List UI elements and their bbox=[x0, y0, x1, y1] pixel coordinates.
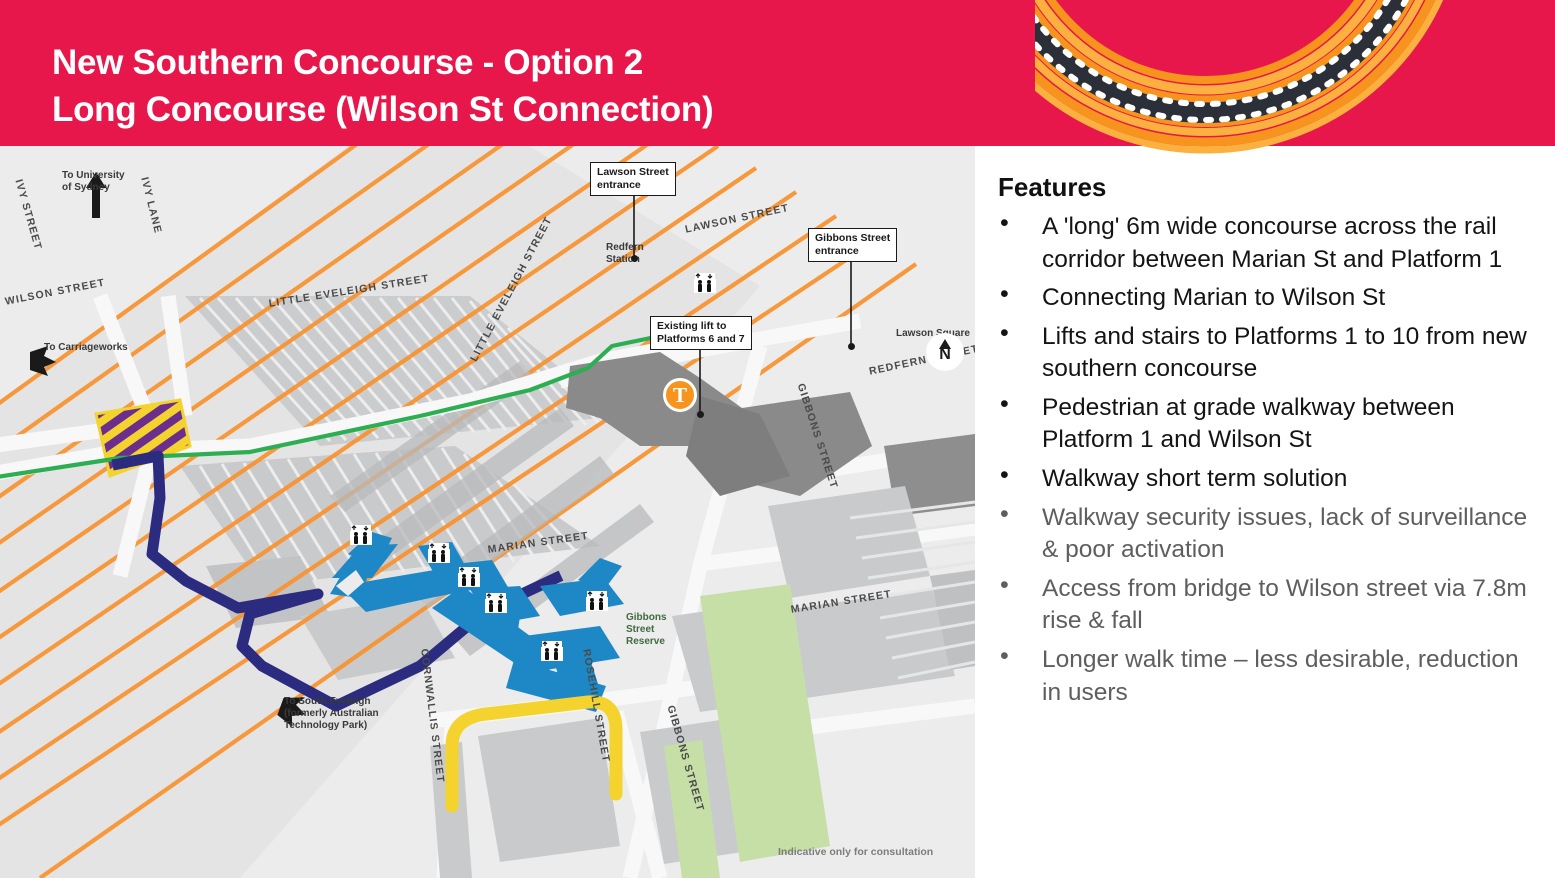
callout-gibbons-street-entrance[interactable]: Gibbons Street entrance bbox=[808, 228, 897, 262]
page-title: New Southern Concourse - Option 2 Long C… bbox=[52, 40, 1052, 133]
features-bullet-list: •A 'long' 6m wide concourse across the r… bbox=[990, 211, 1550, 709]
feature-bullet-text: A 'long' 6m wide concourse across the ra… bbox=[1042, 211, 1550, 276]
bullet-dot-icon: • bbox=[990, 644, 1042, 709]
lift-stairs-marker-icon bbox=[692, 272, 718, 294]
feature-bullet-text: Walkway security issues, lack of surveil… bbox=[1042, 502, 1550, 567]
feature-bullet: •Walkway security issues, lack of survei… bbox=[990, 502, 1550, 567]
lift-stairs-marker-icon bbox=[426, 542, 452, 564]
lift-stairs-marker-icon bbox=[483, 592, 509, 614]
feature-bullet-text: Lifts and stairs to Platforms 1 to 10 fr… bbox=[1042, 321, 1550, 386]
title-banner: New Southern Concourse - Option 2 Long C… bbox=[0, 0, 1555, 146]
map-disclaimer: Indicative only for consultation bbox=[778, 846, 933, 859]
callout-anchor-dot bbox=[631, 255, 638, 262]
slide: New Southern Concourse - Option 2 Long C… bbox=[0, 0, 1555, 878]
features-panel: Features •A 'long' 6m wide concourse acr… bbox=[990, 160, 1550, 878]
bullet-dot-icon: • bbox=[990, 463, 1042, 496]
callout-anchor-dot bbox=[697, 411, 704, 418]
feature-bullet-text: Longer walk time – less desirable, reduc… bbox=[1042, 644, 1550, 709]
feature-bullet: •Lifts and stairs to Platforms 1 to 10 f… bbox=[990, 321, 1550, 386]
feature-bullet-text: Connecting Marian to Wilson St bbox=[1042, 282, 1550, 315]
direction-label-carriageworks: To Carriageworks bbox=[44, 342, 128, 354]
feature-bullet: •Walkway short term solution bbox=[990, 463, 1550, 496]
north-compass-icon: N bbox=[926, 333, 964, 371]
feature-bullet: •Connecting Marian to Wilson St bbox=[990, 282, 1550, 315]
bullet-dot-icon: • bbox=[990, 321, 1042, 386]
lift-stairs-marker-icon bbox=[584, 590, 610, 612]
feature-bullet: •Pedestrian at grade walkway between Pla… bbox=[990, 392, 1550, 457]
features-heading: Features bbox=[998, 172, 1550, 203]
bullet-dot-icon: • bbox=[990, 282, 1042, 315]
bullet-dot-icon: • bbox=[990, 211, 1042, 276]
bullet-dot-icon: • bbox=[990, 502, 1042, 567]
place-label-gibbons-street-reserve: Gibbons Street Reserve bbox=[626, 612, 667, 648]
bullet-dot-icon: • bbox=[990, 392, 1042, 457]
lift-stairs-marker-icon bbox=[348, 524, 374, 546]
feature-bullet: •Access from bridge to Wilson street via… bbox=[990, 573, 1550, 638]
feature-bullet: •A 'long' 6m wide concourse across the r… bbox=[990, 211, 1550, 276]
lift-stairs-marker-icon bbox=[456, 566, 482, 588]
feature-bullet-text: Walkway short term solution bbox=[1042, 463, 1550, 496]
feature-bullet: •Longer walk time – less desirable, redu… bbox=[990, 644, 1550, 709]
place-label-redfern-station: Redfern Station bbox=[606, 242, 644, 266]
callout-lawson-street-entrance[interactable]: Lawson Street entrance bbox=[590, 162, 676, 196]
feature-bullet-text: Access from bridge to Wilson street via … bbox=[1042, 573, 1550, 638]
compass-north-letter: N bbox=[926, 346, 964, 364]
lift-stairs-marker-icon bbox=[539, 640, 565, 662]
callout-anchor-dot bbox=[848, 343, 855, 350]
direction-label-university: To University of Sydney bbox=[62, 170, 125, 194]
direction-label-south-eveleigh: To South Eveleigh (formerly Australian T… bbox=[284, 696, 379, 732]
feature-bullet-text: Pedestrian at grade walkway between Plat… bbox=[1042, 392, 1550, 457]
map-canvas[interactable]: IVY STREET IVY LANE WILSON STREET LITTLE… bbox=[0, 146, 975, 878]
bullet-dot-icon: • bbox=[990, 573, 1042, 638]
callout-existing-lift[interactable]: Existing lift to Platforms 6 and 7 bbox=[650, 316, 752, 350]
train-station-icon: T bbox=[663, 378, 697, 412]
